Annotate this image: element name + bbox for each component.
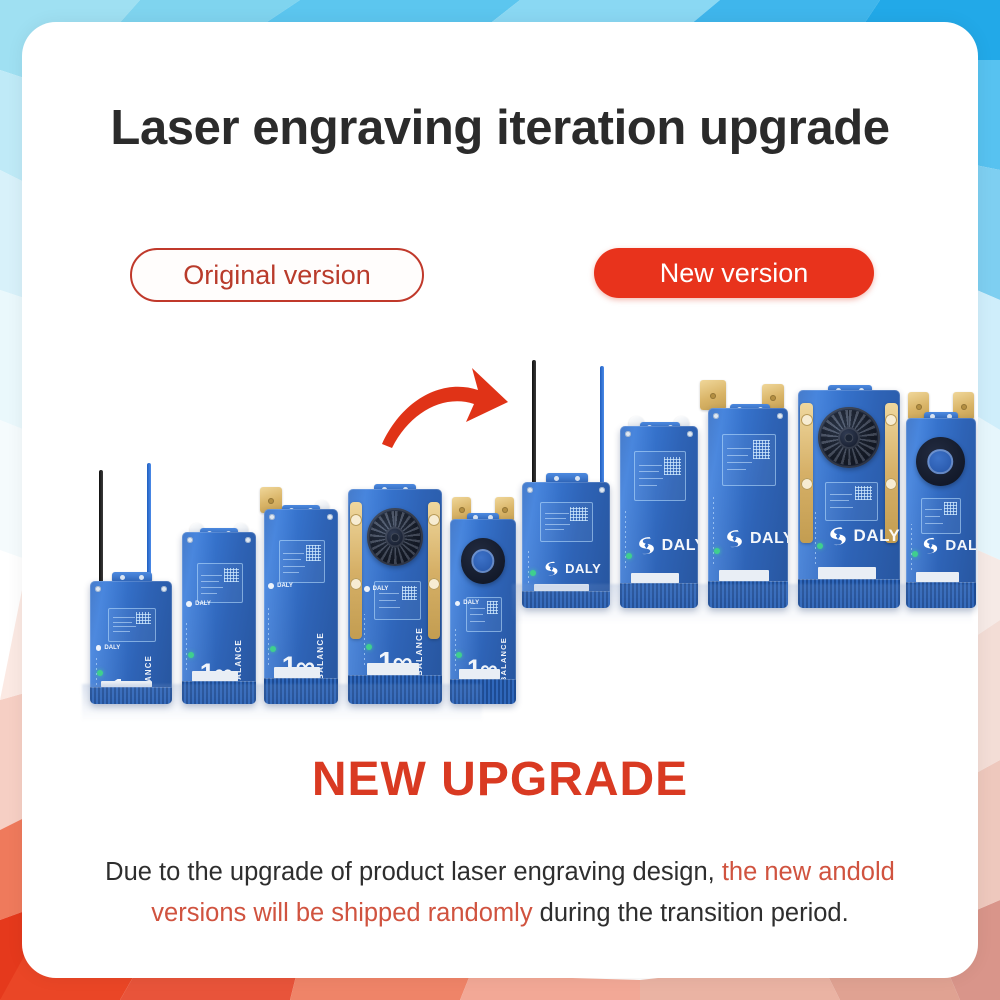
reflection-new: [512, 584, 972, 624]
status-led: [912, 551, 918, 557]
heatsink-bracket: [428, 502, 440, 640]
pcb-body: DALY: [620, 426, 698, 608]
status-led: [714, 548, 720, 554]
daly-logo-old: DALY: [364, 586, 388, 592]
daly-wordmark: DALY: [373, 586, 389, 592]
note-lead: Due to the upgrade of product laser engr…: [105, 858, 722, 886]
daly-wordmark: DALY: [750, 530, 788, 548]
daly-wordmark: DALY: [104, 645, 120, 651]
terminal-gold: [700, 380, 726, 410]
daly-wordmark: DALY: [277, 583, 293, 589]
status-led: [626, 553, 632, 559]
list-item[interactable]: DALY: [798, 390, 900, 608]
cooling-fan: [818, 407, 879, 468]
daly-logo-new: DALY: [636, 535, 698, 556]
status-led: [530, 570, 536, 576]
status-led: [97, 670, 103, 676]
daly-swirl-icon: [921, 536, 940, 555]
badge-original-version: Original version: [130, 248, 424, 302]
heatsink-bracket: [800, 403, 813, 543]
daly-wordmark: DALY: [195, 601, 211, 607]
daly-logo-new: DALY: [724, 528, 788, 549]
poster: Laser engraving iteration upgrade Origin…: [0, 0, 1000, 1000]
daly-wordmark: DALY: [463, 600, 479, 606]
upgrade-heading: NEW UPGRADE: [22, 752, 978, 807]
daly-dot-icon: [455, 601, 461, 607]
list-item[interactable]: DALY 1∞ BALANCE: [182, 532, 256, 704]
page-title: Laser engraving iteration upgrade: [22, 100, 978, 156]
list-item[interactable]: DALY 1∞ BALANCE: [264, 509, 338, 704]
daly-swirl-icon: [543, 560, 560, 577]
status-led: [270, 646, 276, 652]
laser-label: [921, 498, 961, 534]
reflection-original: [82, 684, 482, 722]
heatsink-bracket: [350, 502, 362, 640]
pcb-body: DALY 1∞ BALANCE: [182, 532, 256, 704]
status-led: [456, 652, 462, 658]
laser-label: [825, 482, 878, 521]
laser-label: [108, 608, 156, 642]
daly-logo-new: DALY: [921, 536, 976, 555]
daly-logo-old: DALY: [268, 583, 292, 589]
status-led: [188, 652, 194, 658]
list-item[interactable]: DALY: [708, 408, 788, 608]
daly-logo-old: DALY: [186, 601, 210, 607]
daly-wordmark: DALY: [662, 537, 698, 555]
heatsink-bracket: [885, 403, 898, 543]
pcb-body: DALY: [906, 418, 976, 608]
daly-wordmark: DALY: [854, 526, 900, 546]
laser-label: [634, 451, 686, 500]
daly-logo-old: DALY: [455, 600, 479, 606]
laser-label: [279, 540, 325, 583]
badge-new-version: New version: [594, 248, 874, 298]
laser-label: [722, 434, 775, 486]
daly-dot-icon: [96, 645, 102, 651]
cooling-fan: [367, 508, 423, 566]
daly-dot-icon: [268, 583, 274, 589]
pcb-body: DALY 1∞ BALANCE: [264, 509, 338, 704]
content-card: Laser engraving iteration upgrade Origin…: [22, 22, 978, 978]
pcb-body: DALY: [798, 390, 900, 608]
daly-dot-icon: [186, 601, 192, 607]
status-led: [817, 543, 823, 549]
laser-label: [197, 563, 243, 603]
daly-logo-old: DALY: [96, 645, 120, 651]
list-item[interactable]: DALY: [906, 418, 976, 608]
pcb-body: DALY 1∞ BALANCE: [348, 489, 442, 704]
daly-swirl-icon: [636, 535, 657, 556]
product-group-new: DALY: [492, 322, 962, 607]
daly-swirl-icon: [724, 528, 745, 549]
product-group-original: DALY 1∞ BALANCE: [52, 437, 472, 707]
daly-logo-new: DALY: [827, 525, 900, 547]
status-led: [366, 644, 372, 650]
daly-dot-icon: [364, 586, 370, 592]
note-tail: during the transition period.: [533, 899, 849, 927]
daly-wordmark: DALY: [565, 561, 601, 576]
pcb-body: DALY: [708, 408, 788, 608]
list-item[interactable]: DALY 1∞ BALANCE: [348, 489, 442, 704]
relay-contactor: [916, 437, 965, 486]
daly-swirl-icon: [827, 525, 849, 547]
laser-label: [540, 502, 593, 542]
daly-wordmark: DALY: [945, 537, 976, 554]
transition-note: Due to the upgrade of product laser engr…: [74, 852, 926, 935]
daly-logo-new: DALY: [543, 560, 601, 577]
list-item[interactable]: DALY: [620, 426, 698, 608]
